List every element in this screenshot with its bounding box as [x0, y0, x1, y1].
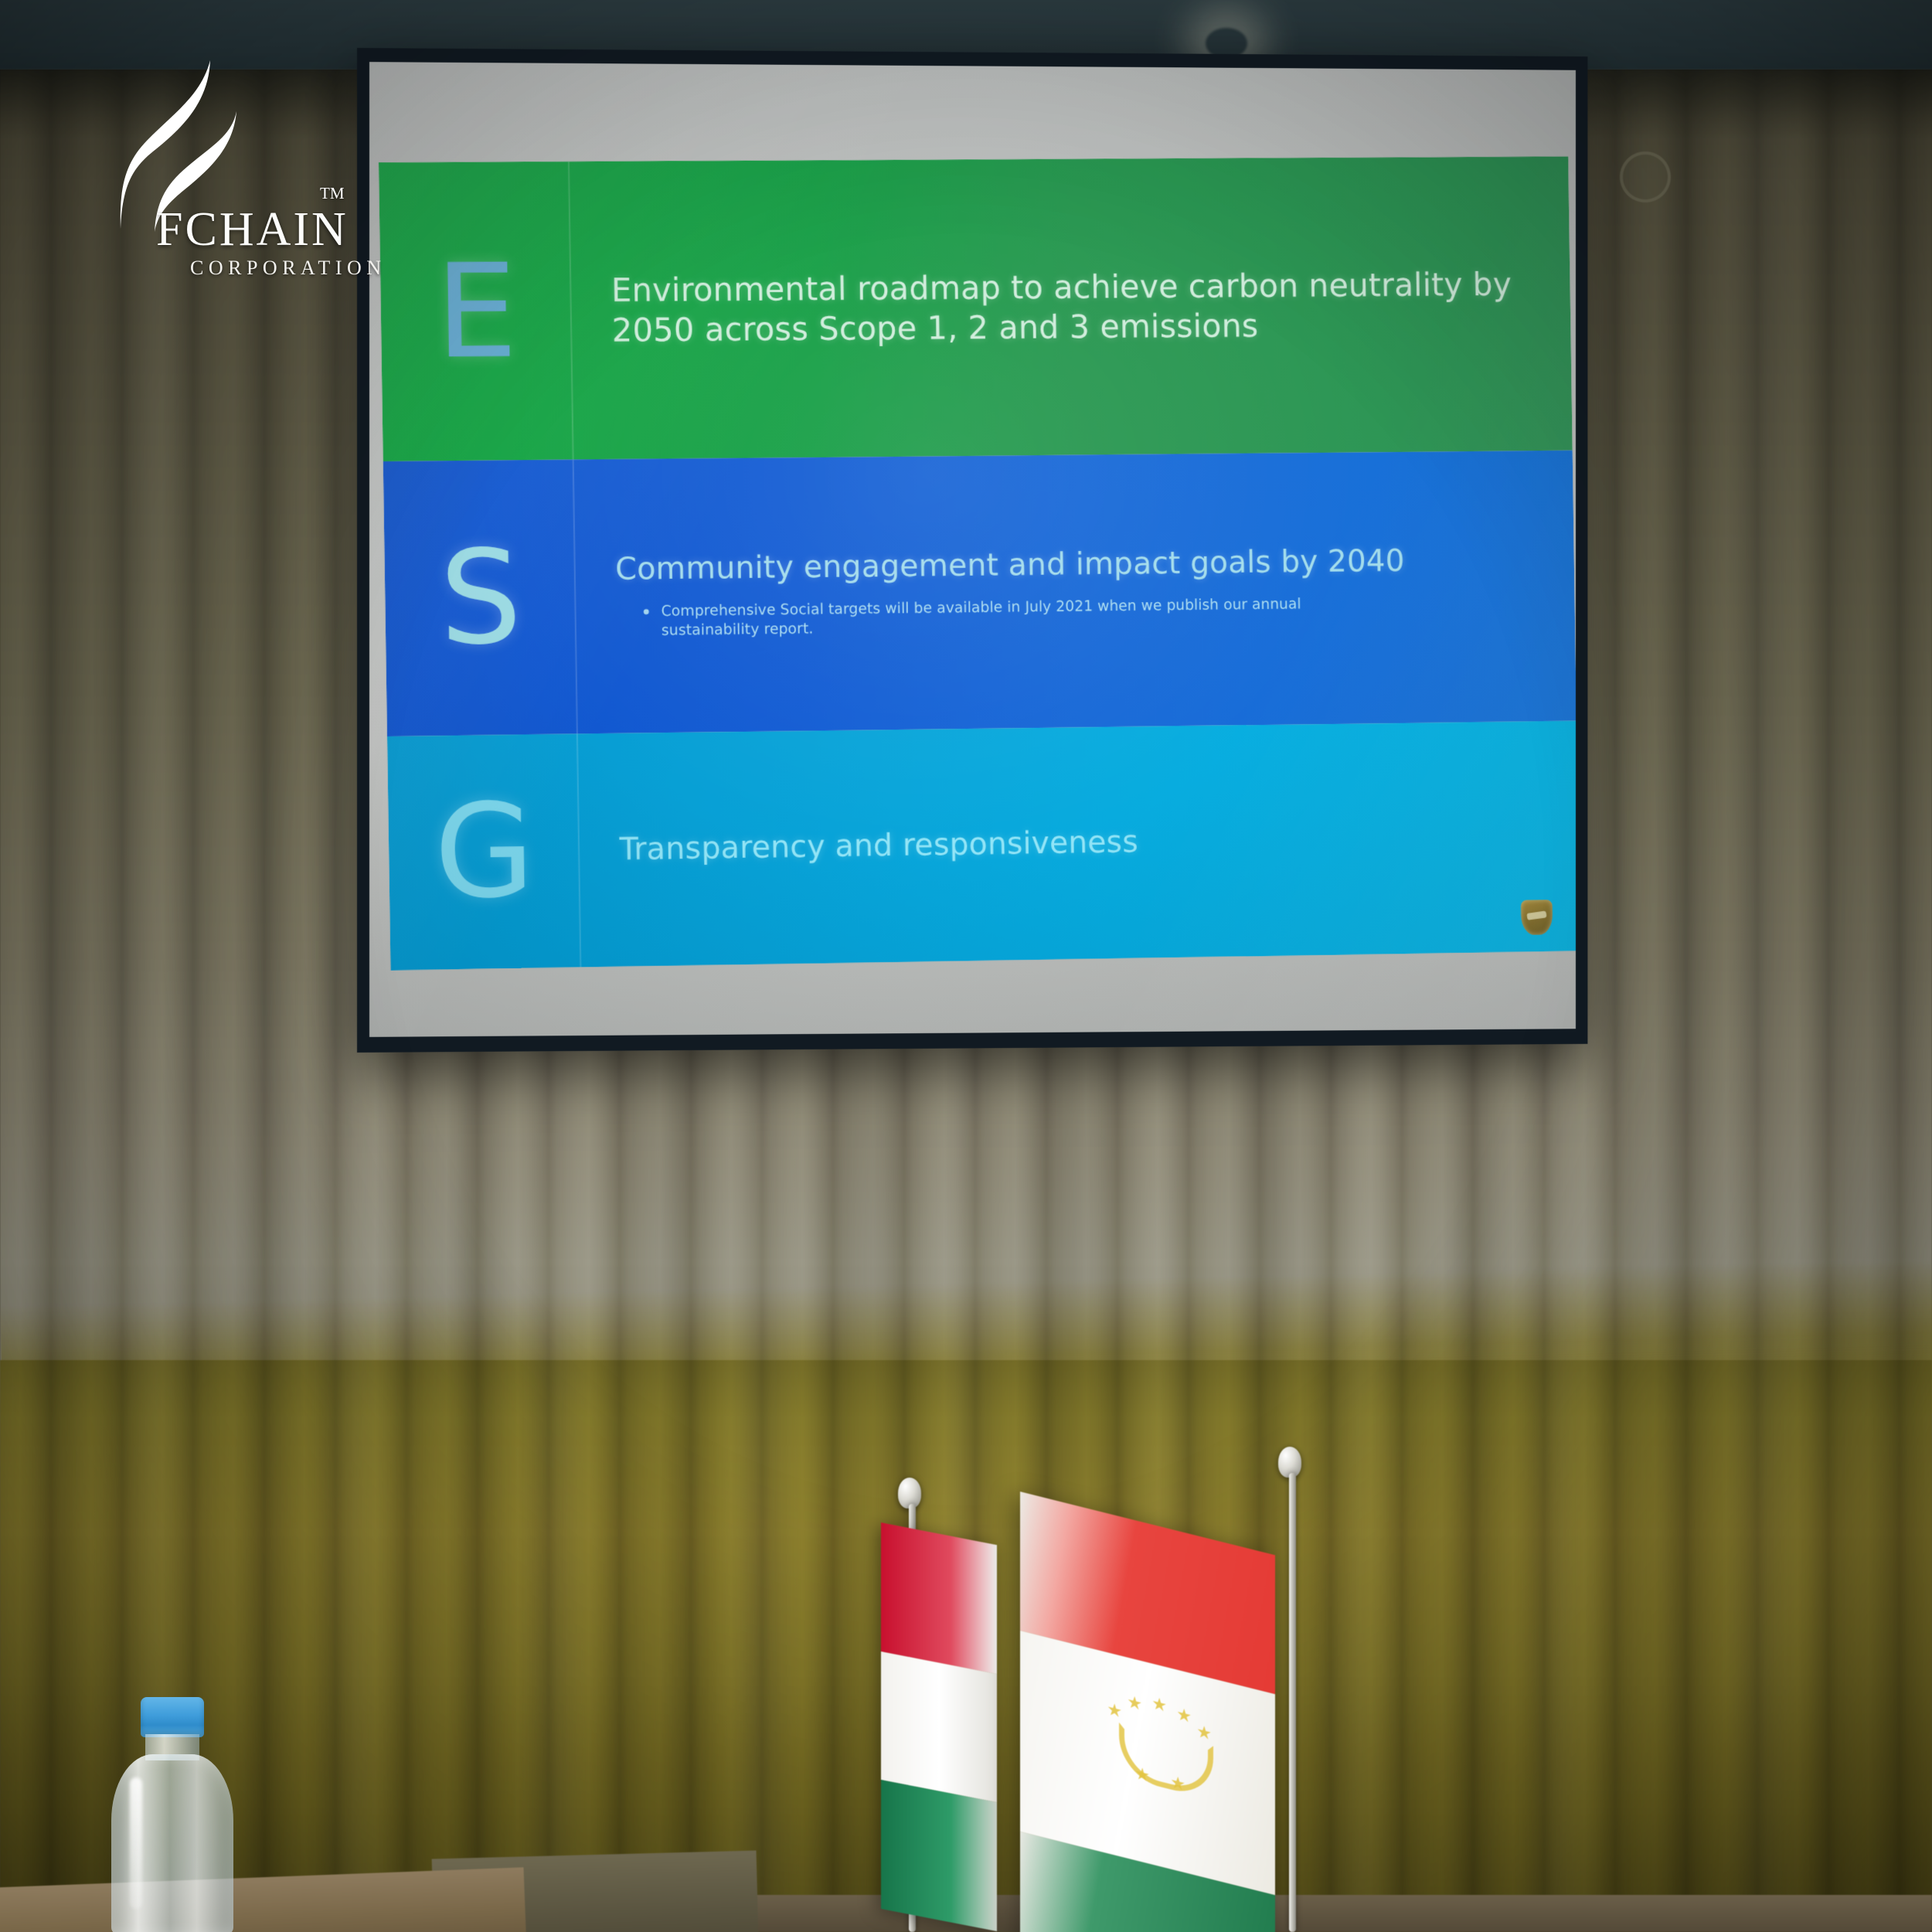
hungary-stripe-green [881, 1780, 997, 1931]
hungary-stripe-red [881, 1522, 997, 1674]
governance-text-cell: Transparency and responsiveness [578, 720, 1576, 967]
flag-pole [1289, 1473, 1296, 1932]
screen-mount-bracket [1620, 151, 1671, 202]
water-bottle [107, 1697, 236, 1932]
social-bullet-item: Comprehensive Social targets will be ava… [616, 592, 1543, 641]
pillar-letter-g-cell: G [387, 733, 581, 970]
hungary-stripe-white [881, 1651, 997, 1803]
social-text-cell: Community engagement and impact goals by… [574, 451, 1576, 733]
brand-name: FCHAIN [74, 206, 352, 253]
trademark-symbol: TM [320, 184, 345, 203]
fchain-watermark-logo: TM FCHAIN CORPORATION [74, 54, 352, 278]
ups-shield-icon [1521, 900, 1553, 935]
governance-headline: Transparency and responsiveness [619, 818, 1546, 869]
conference-room-photo: E Environmental roadmap to achieve carbo… [0, 0, 1932, 1932]
slide-row-environmental: E Environmental roadmap to achieve carbo… [379, 156, 1573, 461]
bottle-cap [141, 1697, 204, 1737]
bottle-highlight [130, 1777, 142, 1909]
pillar-letter-e-cell: E [379, 162, 574, 461]
brand-subtitle: CORPORATION [74, 258, 352, 278]
pillar-letter-s: S [439, 532, 523, 663]
logo-wordmark: FCHAIN CORPORATION [74, 206, 352, 278]
pillar-letter-e: E [434, 247, 518, 376]
pillar-letter-g: G [434, 786, 536, 917]
slide-row-governance: G Transparency and responsiveness [387, 720, 1576, 970]
tajikistan-flag-cloth: ★ ★ ★ ★ ★ ★ ★ [1020, 1492, 1275, 1932]
slide-row-social: S Community engagement and impact goals … [383, 451, 1576, 736]
projection-screen: E Environmental roadmap to achieve carbo… [357, 48, 1587, 1053]
hungary-flag-cloth [881, 1522, 997, 1931]
tajikistan-crown-stars-emblem-icon: ★ ★ ★ ★ ★ ★ ★ [1107, 1684, 1223, 1798]
pillar-letter-s-cell: S [383, 460, 578, 736]
social-headline: Community engagement and impact goals by… [615, 542, 1542, 589]
esg-slide: E Environmental roadmap to achieve carbo… [379, 156, 1576, 970]
social-bullet-text: Comprehensive Social targets will be ava… [661, 594, 1344, 641]
screen-surface: E Environmental roadmap to achieve carbo… [369, 62, 1576, 1037]
bullet-dot-icon [644, 609, 649, 614]
environmental-text-cell: Environmental roadmap to achieve carbon … [570, 156, 1573, 459]
environmental-headline: Environmental roadmap to achieve carbon … [611, 264, 1539, 349]
